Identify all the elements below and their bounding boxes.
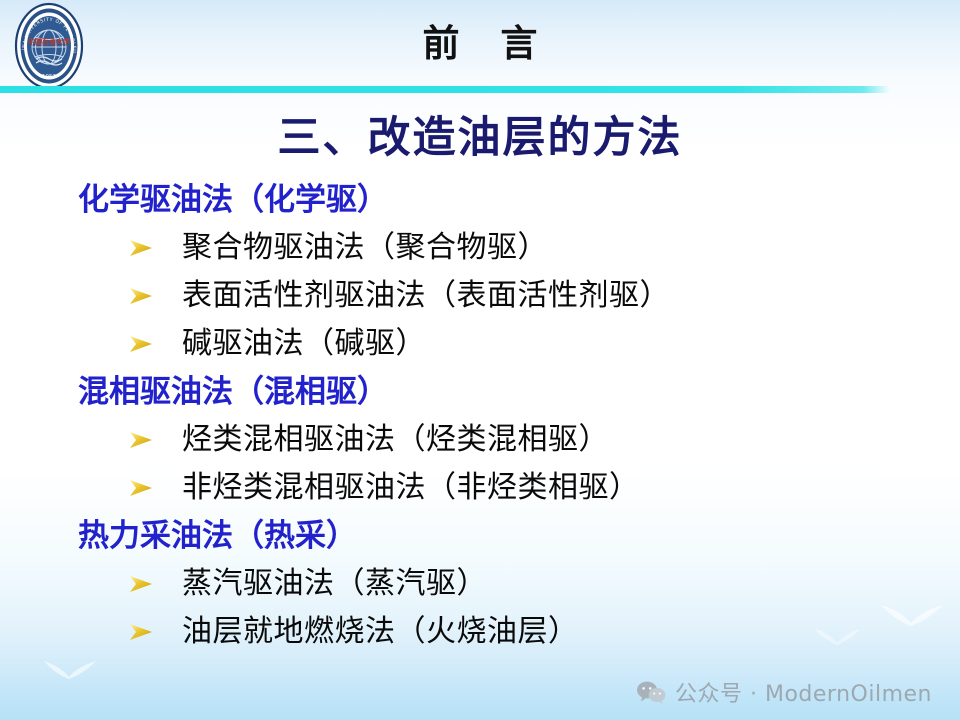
content-group: 化学驱油法（化学驱） <box>0 176 960 368</box>
group-heading: 化学驱油法（化学驱） <box>78 176 960 224</box>
content-group: 混相驱油法（混相驱） 烃类混相驱油法（烃类混相驱） 非烃类混相驱油法（非烃类相驱… <box>0 368 960 512</box>
list-item-label: 碱驱油法（碱驱） <box>182 320 426 368</box>
list-item-label: 油层就地燃烧法（火烧油层） <box>182 608 579 656</box>
bullet-list: 蒸汽驱油法（蒸汽驱） 油层就地燃烧法（火烧油层） <box>0 560 960 656</box>
group-heading: 混相驱油法（混相驱） <box>78 368 960 416</box>
list-item[interactable]: 聚合物驱油法（聚合物驱） <box>128 224 960 272</box>
section-title: 三、改造油层的方法 <box>0 103 960 165</box>
arrow-bullet-icon <box>128 238 182 258</box>
arrow-bullet-icon <box>128 286 182 306</box>
arrow-bullet-icon <box>128 334 182 354</box>
list-item[interactable]: 油层就地燃烧法（火烧油层） <box>128 608 960 656</box>
svg-text:1953: 1953 <box>42 74 56 80</box>
slide-header: 中国石油大学 CHINA UNIVERSITY OF PETROLEUM 195… <box>0 0 960 92</box>
slide-canvas: 中国石油大学 CHINA UNIVERSITY OF PETROLEUM 195… <box>0 0 960 720</box>
list-item[interactable]: 表面活性剂驱油法（表面活性剂驱） <box>128 272 960 320</box>
content-body: 化学驱油法（化学驱） <box>0 176 960 656</box>
page-title: 前 言 <box>0 13 960 67</box>
arrow-bullet-icon <box>128 430 182 450</box>
watermark-label: 公众号 · ModernOilmen <box>675 676 932 708</box>
list-item[interactable]: 烃类混相驱油法（烃类混相驱） <box>128 416 960 464</box>
wechat-icon <box>636 680 666 704</box>
list-item-label: 蒸汽驱油法（蒸汽驱） <box>182 560 487 608</box>
list-item[interactable]: 蒸汽驱油法（蒸汽驱） <box>128 560 960 608</box>
bullet-list: 聚合物驱油法（聚合物驱） 表面活性剂驱油法（表面活性剂驱） 碱驱油法（碱驱） <box>0 224 960 368</box>
header-divider <box>0 86 890 93</box>
list-item-label: 非烃类混相驱油法（非烃类相驱） <box>182 464 640 512</box>
list-item-label: 表面活性剂驱油法（表面活性剂驱） <box>182 272 670 320</box>
arrow-bullet-icon <box>128 574 182 594</box>
list-item[interactable]: 非烃类混相驱油法（非烃类相驱） <box>128 464 960 512</box>
bullet-list: 烃类混相驱油法（烃类混相驱） 非烃类混相驱油法（非烃类相驱） <box>0 416 960 512</box>
list-item-label: 聚合物驱油法（聚合物驱） <box>182 224 548 272</box>
content-group: 热力采油法（热采） 蒸汽驱油法（蒸汽驱） 油层就地燃烧法（火烧油层） <box>0 512 960 656</box>
arrow-bullet-icon <box>128 478 182 498</box>
watermark: 公众号 · ModernOilmen <box>636 676 932 708</box>
arrow-bullet-icon <box>128 622 182 642</box>
bird-decoration-left <box>40 655 100 685</box>
group-heading: 热力采油法（热采） <box>78 512 960 560</box>
list-item[interactable]: 碱驱油法（碱驱） <box>128 320 960 368</box>
list-item-label: 烃类混相驱油法（烃类混相驱） <box>182 416 609 464</box>
